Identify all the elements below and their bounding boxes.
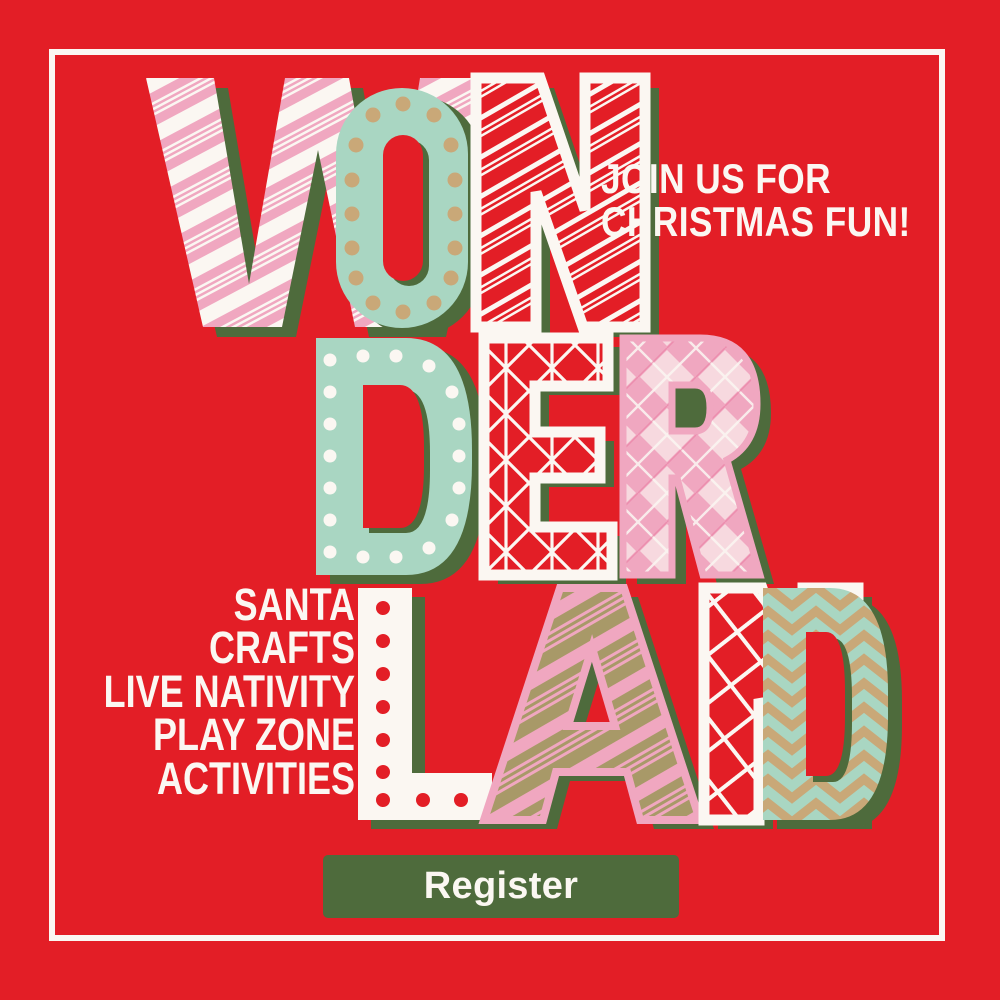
wonderland-wordmark [0,0,1000,1000]
letter-R-der [623,338,774,584]
wordmark-row-land [358,588,902,829]
feature-item-live-nativity: LIVE NATIVITY [103,670,355,713]
feature-item-crafts: CRAFTS [103,626,355,669]
register-button[interactable]: Register [323,855,679,918]
wordmark-row-der [316,338,774,584]
letter-O [336,88,482,336]
features-list: SANTA CRAFTS LIVE NATIVITY PLAY ZONE ACT… [40,583,355,800]
tagline-line-1: JOIN US FOR [601,158,878,201]
feature-item-play-zone: PLAY ZONE [103,713,355,756]
poster-canvas: JOIN US FOR CHRISTMAS FUN! SANTA CRAFTS … [0,0,1000,1000]
feature-item-santa: SANTA [103,583,355,626]
tagline-line-2: CHRISTMAS FUN! [601,201,878,244]
wordmark-row-won [146,78,659,337]
letter-L-land [358,588,505,829]
letter-A-land [484,588,714,829]
letter-D-der [316,338,486,584]
letter-E-der [484,338,626,584]
letter-D-land [763,588,902,829]
feature-item-activities: ACTIVITIES [103,757,355,800]
tagline: JOIN US FOR CHRISTMAS FUN! [601,158,878,244]
